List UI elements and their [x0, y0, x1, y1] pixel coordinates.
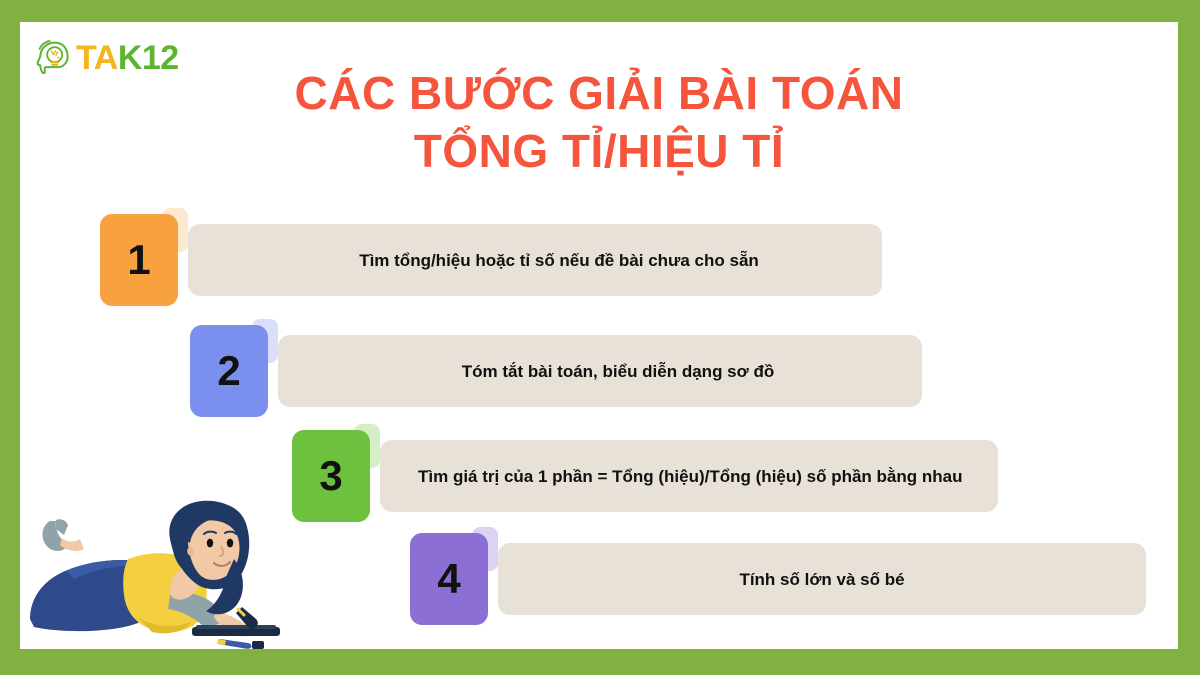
step-bar-1: Tìm tổng/hiệu hoặc tỉ số nếu đề bài chưa…: [188, 224, 882, 296]
girl-lying-writing-illustration: [20, 499, 290, 649]
title-line-2: TỔNG TỈ/HIỆU TỈ: [20, 122, 1178, 180]
slide-canvas: TAK12 CÁC BƯỚC GIẢI BÀI TOÁN TỔNG TỈ/HIỆ…: [20, 22, 1178, 649]
step-badge-wrap-4: 4: [410, 533, 492, 625]
title-line-1: CÁC BƯỚC GIẢI BÀI TOÁN: [20, 64, 1178, 122]
step-bar-3: Tìm giá trị của 1 phần = Tổng (hiệu)/Tổn…: [380, 440, 998, 512]
step-badge-wrap-3: 3: [292, 430, 374, 522]
step-bar-2: Tóm tắt bài toán, biểu diễn dạng sơ đồ: [278, 335, 922, 407]
step-badge-wrap-2: 2: [190, 325, 272, 417]
step-badge-wrap-1: 1: [100, 214, 182, 306]
slide-root: TAK12 CÁC BƯỚC GIẢI BÀI TOÁN TỔNG TỈ/HIỆ…: [0, 0, 1200, 675]
step-badge-2: 2: [190, 325, 268, 417]
step-number-1: 1: [127, 239, 150, 281]
step-number-2: 2: [217, 350, 240, 392]
step-number-3: 3: [319, 455, 342, 497]
page-title: CÁC BƯỚC GIẢI BÀI TOÁN TỔNG TỈ/HIỆU TỈ: [20, 64, 1178, 180]
step-text-3: Tìm giá trị của 1 phần = Tổng (hiệu)/Tổn…: [380, 464, 998, 489]
step-text-1: Tìm tổng/hiệu hoặc tỉ số nếu đề bài chưa…: [188, 248, 882, 273]
step-bar-4: Tính số lớn và số bé: [498, 543, 1146, 615]
step-text-2: Tóm tắt bài toán, biểu diễn dạng sơ đồ: [278, 359, 922, 384]
step-badge-4: 4: [410, 533, 488, 625]
step-badge-1: 1: [100, 214, 178, 306]
step-badge-3: 3: [292, 430, 370, 522]
step-number-4: 4: [437, 558, 460, 600]
step-text-4: Tính số lớn và số bé: [498, 567, 1146, 592]
